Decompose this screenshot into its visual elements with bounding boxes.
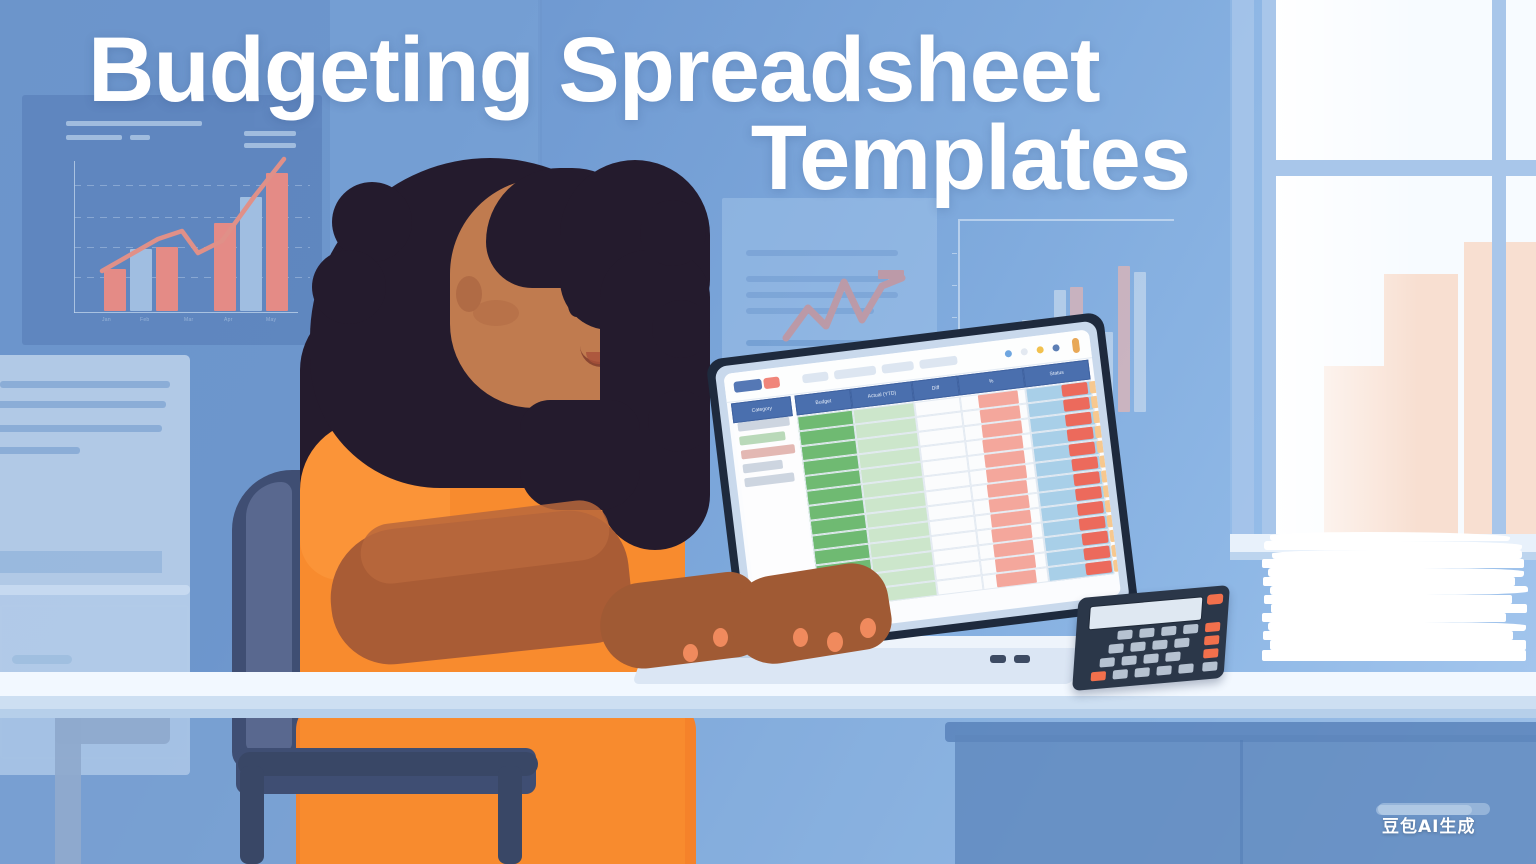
calculator-key[interactable] xyxy=(1156,665,1172,675)
paper-sheet xyxy=(1271,604,1527,613)
filing-cabinet-handle xyxy=(12,655,72,664)
paper-sheet xyxy=(1270,586,1528,595)
window-mullion-horizontal xyxy=(1262,160,1536,176)
illustration-canvas: Jan Feb Mar Apr May ~~~ ~~ xyxy=(0,0,1536,864)
paper-sheet xyxy=(1264,541,1522,550)
app-logo-pill xyxy=(733,379,762,393)
side-panel-row[interactable] xyxy=(744,472,795,487)
calculator-key[interactable] xyxy=(1165,651,1181,661)
desk-leg xyxy=(55,718,81,864)
window-light-glow xyxy=(1268,0,1418,542)
toolbar-icon-dot[interactable] xyxy=(1036,346,1044,354)
paper-sheet xyxy=(1262,559,1524,568)
fingernail xyxy=(827,632,843,652)
fingernail xyxy=(683,644,698,662)
calculator-key[interactable] xyxy=(1117,630,1133,640)
office-chair-arm-post xyxy=(498,766,522,864)
doc-text-line xyxy=(0,447,80,454)
fingernail xyxy=(793,628,808,647)
calculator-key[interactable] xyxy=(1204,635,1220,645)
paper-sheet xyxy=(1262,650,1526,661)
low-cabinet xyxy=(955,735,1536,864)
calculator[interactable] xyxy=(1072,585,1230,691)
calculator-key[interactable] xyxy=(1112,669,1128,679)
toolbar-avatar[interactable] xyxy=(1072,338,1081,354)
side-panel-row[interactable] xyxy=(741,444,796,460)
calculator-key[interactable] xyxy=(1202,661,1218,671)
calculator-key[interactable] xyxy=(1205,622,1221,632)
side-panel-row[interactable] xyxy=(742,460,783,474)
toolbar-icon-dot[interactable] xyxy=(1020,348,1028,356)
doc-text-line xyxy=(0,425,162,432)
paper-sheet xyxy=(1268,622,1526,631)
page-title: Budgeting Spreadsheet Templates xyxy=(60,26,1220,203)
title-line-1: Budgeting Spreadsheet xyxy=(88,26,1220,114)
low-cabinet-seam xyxy=(1240,740,1243,864)
paper-stack xyxy=(1262,530,1532,668)
calculator-key[interactable] xyxy=(1130,641,1146,651)
side-panel-row[interactable] xyxy=(739,431,786,446)
calculator-power-key[interactable] xyxy=(1207,594,1224,605)
paper-sheet xyxy=(1264,595,1512,604)
hair-nape xyxy=(520,400,640,510)
paper-sheet xyxy=(1268,568,1524,577)
calculator-key[interactable] xyxy=(1091,671,1107,681)
office-chair-armrest xyxy=(238,752,538,776)
paper-sheet xyxy=(1270,532,1510,541)
calculator-key[interactable] xyxy=(1121,655,1137,665)
app-logo-accent xyxy=(763,376,780,389)
paper-sheet xyxy=(1262,613,1506,622)
doc-text-line xyxy=(0,381,170,388)
toolbar-menu-item[interactable] xyxy=(834,366,877,380)
calculator-key[interactable] xyxy=(1152,640,1168,650)
paper-sheet xyxy=(1272,550,1522,559)
chart-bar xyxy=(1118,266,1130,412)
chart-bar xyxy=(1134,272,1146,412)
paper-sheet xyxy=(1270,640,1526,650)
desk-lip xyxy=(0,709,1536,718)
calculator-key[interactable] xyxy=(1143,653,1159,663)
desk-edge xyxy=(0,696,1536,710)
office-chair-arm-post xyxy=(240,766,264,864)
poster-text-line xyxy=(746,250,898,256)
wall-document xyxy=(0,355,190,595)
calculator-key[interactable] xyxy=(1108,643,1124,653)
paper-sheet xyxy=(1263,577,1515,586)
fingernail xyxy=(713,628,728,647)
window-frame-edge xyxy=(1232,0,1254,542)
hair-curl xyxy=(652,300,710,358)
toolbar-menu-item[interactable] xyxy=(919,356,958,370)
toolbar-icon-dot[interactable] xyxy=(1052,344,1060,352)
calculator-key[interactable] xyxy=(1178,663,1194,673)
fingernail xyxy=(860,618,876,638)
calculator-key[interactable] xyxy=(1183,624,1199,634)
person-cheek xyxy=(473,300,519,326)
laptop-port xyxy=(1014,655,1030,663)
doc-footer-band xyxy=(0,551,162,573)
calculator-key[interactable] xyxy=(1161,626,1177,636)
calculator-key[interactable] xyxy=(1139,628,1155,638)
hair-curl xyxy=(312,250,386,324)
calculator-key[interactable] xyxy=(1099,657,1115,667)
title-line-2: Templates xyxy=(60,114,1220,202)
calculator-key[interactable] xyxy=(1134,667,1150,677)
watermark-text: 豆包AI生成 xyxy=(1382,812,1475,837)
calculator-key[interactable] xyxy=(1174,638,1190,648)
paper-sheet xyxy=(1263,631,1513,640)
toolbar-menu-item[interactable] xyxy=(881,361,914,374)
hair-curl xyxy=(648,390,710,452)
chart-top-rule xyxy=(958,219,1174,221)
toolbar-icon-dot[interactable] xyxy=(1005,350,1013,358)
window-mullion-vertical xyxy=(1262,0,1276,542)
toolbar-menu-item[interactable] xyxy=(802,371,829,383)
calculator-key[interactable] xyxy=(1203,648,1219,658)
laptop-port xyxy=(990,655,1006,663)
hair-curl xyxy=(640,200,706,266)
doc-text-line xyxy=(0,401,166,408)
window-mullion-vertical xyxy=(1492,0,1506,542)
